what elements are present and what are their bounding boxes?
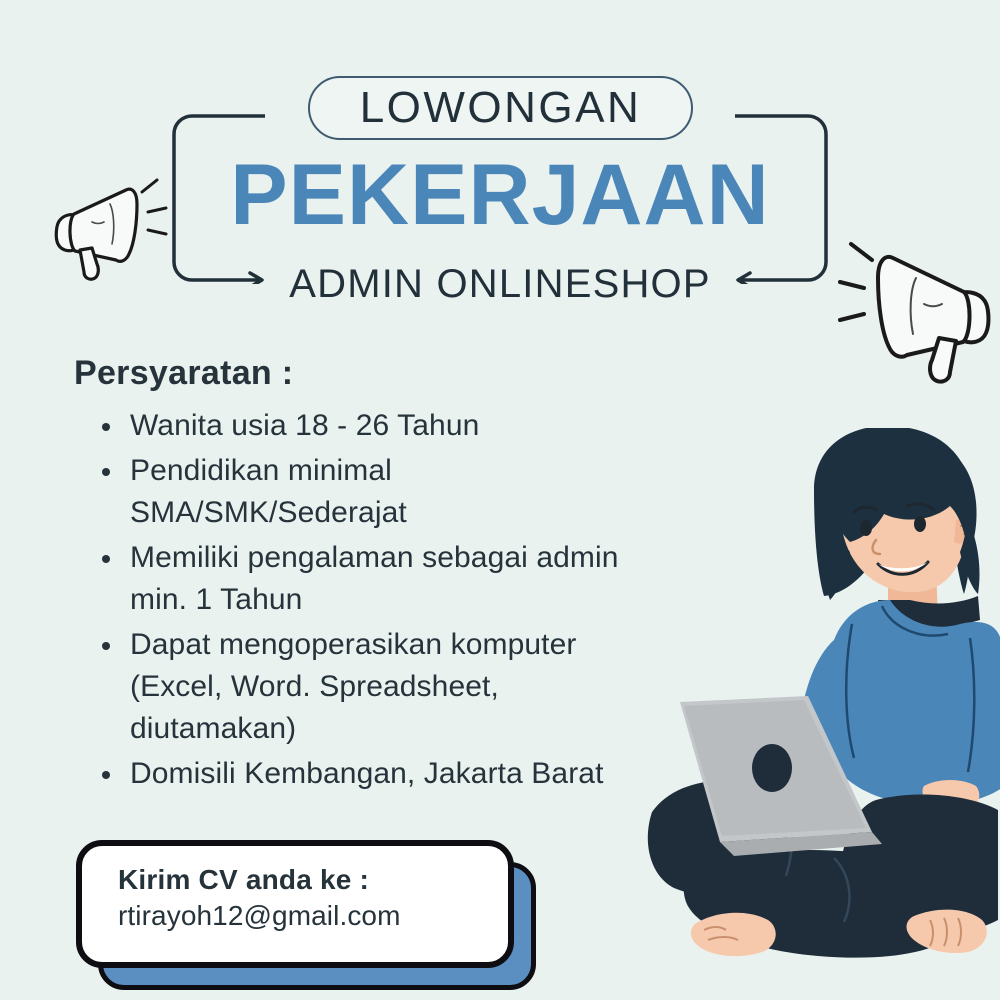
vacancy-badge: LOWONGAN	[308, 76, 693, 140]
contact-title: Kirim CV anda ke :	[118, 864, 508, 896]
vacancy-badge-label: LOWONGAN	[360, 83, 642, 133]
job-vacancy-poster: LOWONGAN PEKERJAAN ADMIN ONLINESHOP	[0, 0, 1000, 1000]
requirements-heading: Persyaratan :	[74, 354, 293, 393]
contact-box-body: Kirim CV anda ke : rtirayoh12@gmail.com	[76, 840, 514, 968]
bullet-icon	[102, 642, 110, 650]
bullet-icon	[102, 468, 110, 476]
megaphone-icon	[836, 228, 1000, 403]
bullet-icon	[102, 555, 110, 563]
list-item-label: Memiliki pengalaman sebagai admin min. 1…	[130, 541, 619, 616]
page-subtitle: ADMIN ONLINESHOP	[0, 262, 1000, 307]
list-item: Dapat mengoperasikan komputer (Excel, Wo…	[92, 624, 622, 750]
list-item-label: Pendidikan minimal SMA/SMK/Sederajat	[130, 454, 407, 529]
list-item: Domisili Kembangan, Jakarta Barat	[92, 753, 622, 795]
eye-right	[914, 516, 926, 532]
woman-with-laptop-illustration	[638, 428, 1000, 1000]
list-item: Wanita usia 18 - 26 Tahun	[92, 405, 622, 447]
eye-left	[860, 520, 872, 536]
list-item-label: Wanita usia 18 - 26 Tahun	[130, 409, 479, 442]
list-item-label: Dapat mengoperasikan komputer (Excel, Wo…	[130, 628, 576, 745]
bullet-icon	[102, 771, 110, 779]
contact-box: Kirim CV anda ke : rtirayoh12@gmail.com	[76, 840, 536, 990]
list-item: Pendidikan minimal SMA/SMK/Sederajat	[92, 450, 622, 534]
requirements-list: Wanita usia 18 - 26 Tahun Pendidikan min…	[92, 405, 622, 798]
list-item-label: Domisili Kembangan, Jakarta Barat	[130, 757, 604, 790]
contact-email[interactable]: rtirayoh12@gmail.com	[118, 900, 508, 932]
bullet-icon	[102, 423, 110, 431]
page-title: PEKERJAAN	[0, 152, 1000, 238]
laptop-logo-icon	[752, 744, 792, 792]
list-item: Memiliki pengalaman sebagai admin min. 1…	[92, 537, 622, 621]
poster-header: LOWONGAN PEKERJAAN ADMIN ONLINESHOP	[0, 0, 1000, 330]
